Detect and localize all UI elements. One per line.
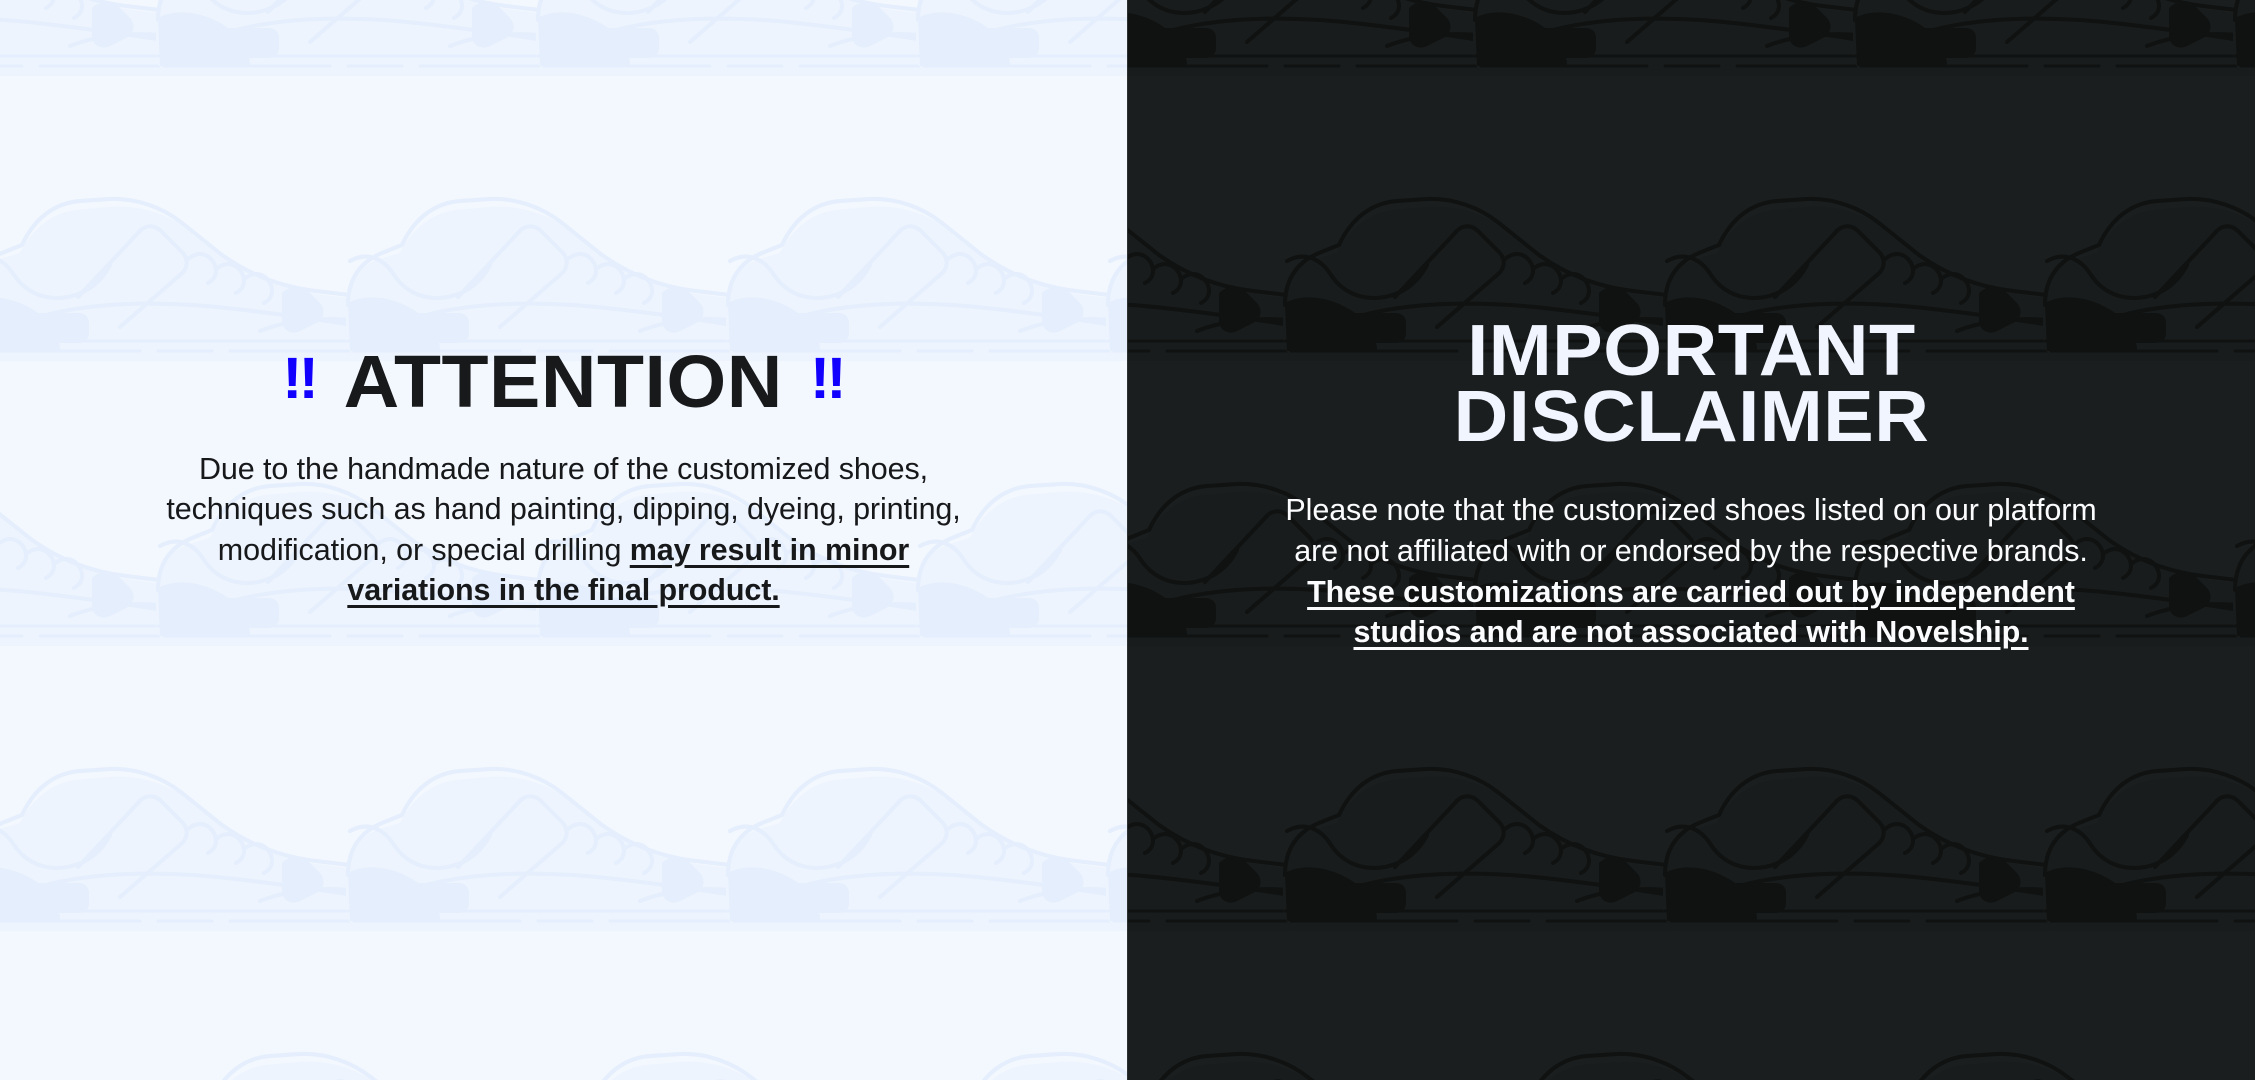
attention-panel: ‼ ATTENTION ‼ Due to the handmade nature… [0, 0, 1127, 1080]
disclaimer-content: IMPORTANT DISCLAIMER Please note that th… [1127, 0, 2255, 653]
attention-content: ‼ ATTENTION ‼ Due to the handmade nature… [0, 0, 1127, 611]
disclaimer-body-plain: Please note that the customized shoes li… [1285, 493, 2096, 568]
disclaimer-body: Please note that the customized shoes li… [1276, 490, 2106, 652]
disclaimer-heading-line2: DISCLAIMER [1453, 377, 1929, 457]
attention-heading-text: ATTENTION [344, 346, 783, 419]
attention-body: Due to the handmade nature of the custom… [164, 449, 964, 611]
disclaimer-body-emphasis: These customizations are carried out by … [1307, 575, 2075, 650]
split-disclaimer-banner: ‼ ATTENTION ‼ Due to the handmade nature… [0, 0, 2255, 1080]
panel-divider [1127, 0, 1128, 1080]
disclaimer-heading: IMPORTANT DISCLAIMER [1453, 318, 1929, 450]
disclaimer-panel: IMPORTANT DISCLAIMER Please note that th… [1127, 0, 2255, 1080]
double-exclamation-icon-right: ‼ [810, 350, 844, 408]
attention-heading: ‼ ATTENTION ‼ [282, 346, 844, 419]
double-exclamation-icon-left: ‼ [282, 350, 316, 408]
